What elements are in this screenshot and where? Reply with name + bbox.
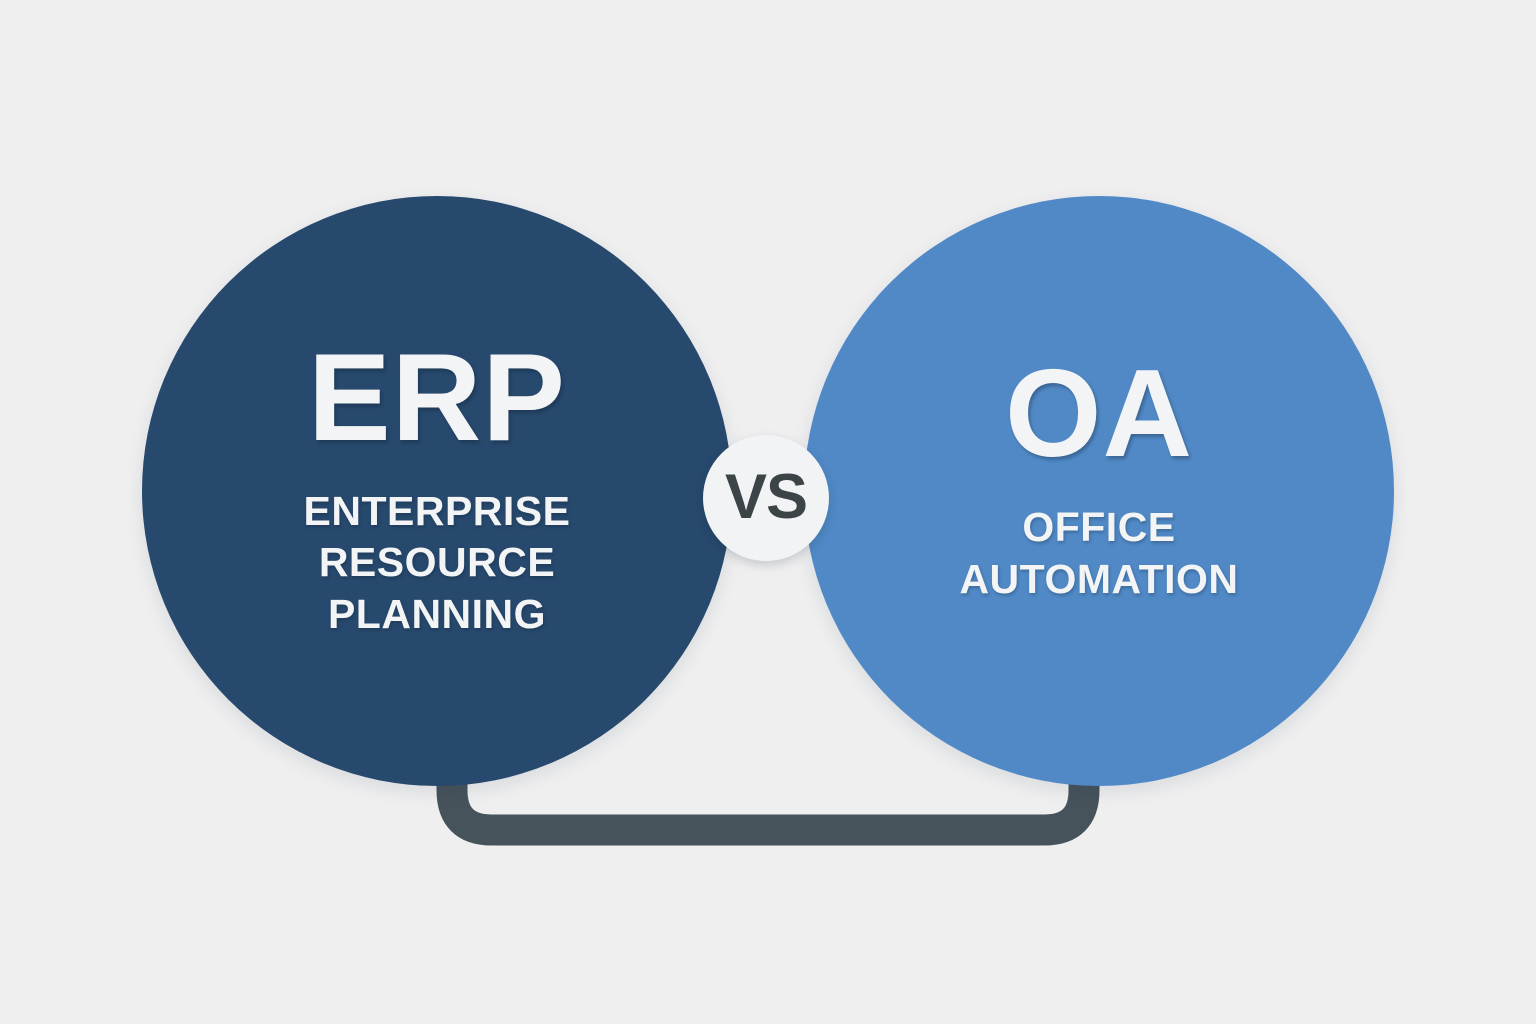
oa-circle[interactable]: OA OFFICE AUTOMATION [804,196,1394,786]
oa-expansion-line-1: OFFICE [1022,504,1175,550]
erp-expansion-line-3: PLANNING [328,591,546,637]
comparison-diagram: ERP ENTERPRISE RESOURCE PLANNING OA OFFI… [0,0,1536,1024]
oa-expansion: OFFICE AUTOMATION [959,502,1238,605]
erp-expansion-line-1: ENTERPRISE [304,488,571,534]
erp-acronym: ERP [308,336,566,460]
erp-expansion-line-2: RESOURCE [319,539,555,585]
vs-badge: VS [703,435,829,561]
vs-label: VS [725,466,807,531]
oa-expansion-line-2: AUTOMATION [959,556,1238,602]
oa-acronym: OA [1005,352,1193,476]
erp-expansion: ENTERPRISE RESOURCE PLANNING [304,486,571,641]
erp-circle[interactable]: ERP ENTERPRISE RESOURCE PLANNING [142,196,732,786]
